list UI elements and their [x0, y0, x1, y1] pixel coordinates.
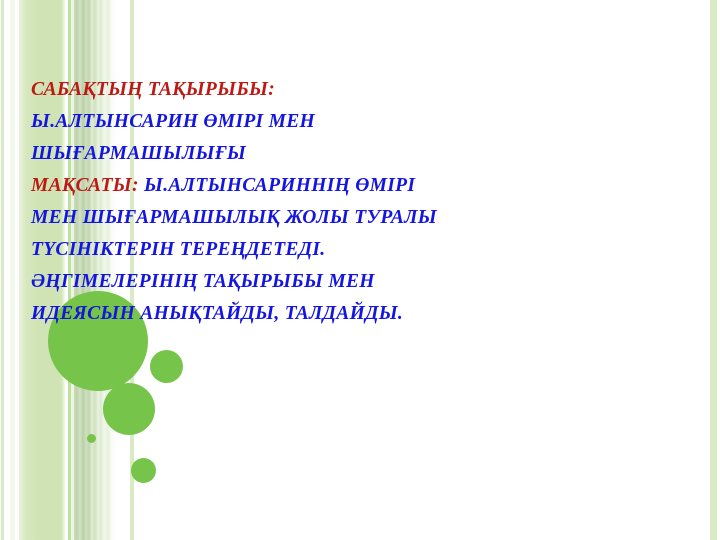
- heading-text-segment: МАҚСАТЫ:: [31, 175, 139, 196]
- circle-small-right: [150, 350, 183, 383]
- right-decorative-stripe: [708, 0, 720, 540]
- heading-text-segment: САБАҚТЫҢ ТАҚЫРЫБЫ:: [31, 79, 275, 100]
- slide-canvas: САБАҚТЫҢ ТАҚЫРЫБЫ:Ы.АЛТЫНСАРИН ӨМІРІ МЕН…: [0, 0, 720, 540]
- circle-medium: [103, 383, 155, 435]
- text-line: ӘҢГІМЕЛЕРІНІҢ ТАҚЫРЫБЫ МЕН: [31, 266, 671, 298]
- circle-small-low: [131, 458, 156, 483]
- body-text-segment: МЕН ШЫҒАРМАШЫЛЫҚ ЖОЛЫ ТУРАЛЫ: [31, 207, 437, 228]
- body-text-segment: Ы.АЛТЫНСАРИННІҢ ӨМІРІ: [139, 175, 415, 196]
- slide-text-block: САБАҚТЫҢ ТАҚЫРЫБЫ:Ы.АЛТЫНСАРИН ӨМІРІ МЕН…: [31, 74, 671, 330]
- text-line: ИДЕЯСЫН АНЫҚТАЙДЫ, ТАЛДАЙДЫ.: [31, 298, 671, 330]
- circle-tiny: [87, 434, 96, 443]
- text-line: ШЫҒАРМАШЫЛЫҒЫ: [31, 138, 671, 170]
- body-text-segment: Ы.АЛТЫНСАРИН ӨМІРІ МЕН: [31, 111, 315, 132]
- text-line: Ы.АЛТЫНСАРИН ӨМІРІ МЕН: [31, 106, 671, 138]
- body-text-segment: ТҮСІНІКТЕРІН ТЕРЕҢДЕТЕДІ.: [31, 239, 325, 260]
- text-line: МЕН ШЫҒАРМАШЫЛЫҚ ЖОЛЫ ТУРАЛЫ: [31, 202, 671, 234]
- body-text-segment: ӘҢГІМЕЛЕРІНІҢ ТАҚЫРЫБЫ МЕН: [31, 271, 375, 292]
- text-line: ТҮСІНІКТЕРІН ТЕРЕҢДЕТЕДІ.: [31, 234, 671, 266]
- body-text-segment: ИДЕЯСЫН АНЫҚТАЙДЫ, ТАЛДАЙДЫ.: [31, 303, 403, 324]
- text-line: САБАҚТЫҢ ТАҚЫРЫБЫ:: [31, 74, 671, 106]
- body-text-segment: ШЫҒАРМАШЫЛЫҒЫ: [31, 143, 246, 164]
- text-line: МАҚСАТЫ: Ы.АЛТЫНСАРИННІҢ ӨМІРІ: [31, 170, 671, 202]
